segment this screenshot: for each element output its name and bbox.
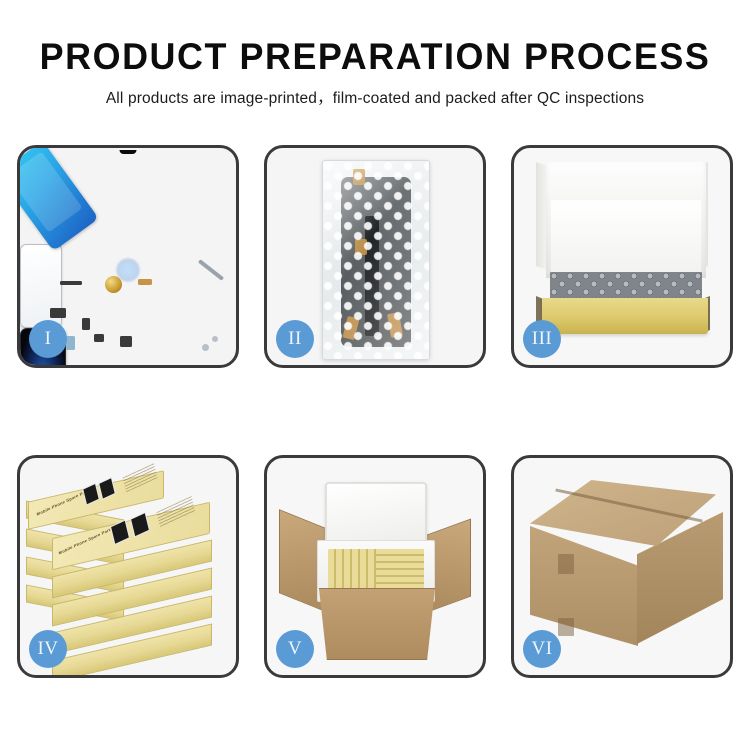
carton-tape-graphic [558, 618, 574, 636]
speaker-module-graphic [105, 276, 122, 293]
step-panel-1: I [17, 145, 239, 368]
phone-notch-icon [120, 150, 137, 154]
box-spec-lines [123, 463, 158, 492]
plastic-sheen-overlay [323, 161, 429, 359]
carton-body-graphic [311, 588, 443, 660]
step-panel-2: II [264, 145, 486, 368]
box-screen-image [98, 477, 116, 500]
small-part-graphic [66, 336, 75, 350]
small-part-graphic [60, 281, 82, 285]
carton-left-face-graphic [530, 526, 638, 646]
step-badge-6: VI [523, 630, 561, 668]
product-preparation-infographic: PRODUCT PREPARATION PROCESS All products… [0, 0, 750, 750]
small-part-graphic [138, 279, 152, 285]
step-badge-3: III [523, 320, 561, 358]
step-panel-3: III [511, 145, 733, 368]
header: PRODUCT PREPARATION PROCESS All products… [0, 0, 750, 108]
step-panel-6: VI [511, 455, 733, 678]
box-screen-image [110, 519, 130, 545]
carton-tape-graphic [558, 554, 574, 574]
page-title: PRODUCT PREPARATION PROCESS [11, 38, 739, 77]
foam-sheet-graphic [551, 200, 701, 274]
step-panel-4: Mobile Phone Spare Parts Mobile Phone Sp… [17, 455, 239, 678]
screw-graphic [202, 344, 209, 351]
step-badge-2: II [276, 320, 314, 358]
packed-yellow-boxes-graphic [376, 549, 424, 593]
box-screen-image [130, 512, 150, 538]
step-badge-4: IV [29, 630, 67, 668]
step-panel-5: V [264, 455, 486, 678]
step-badge-5: V [276, 630, 314, 668]
box-screen-image [82, 483, 100, 506]
box-spec-lines [156, 496, 195, 529]
step-badge-1: I [29, 320, 67, 358]
bubble-wrap-bag-graphic [322, 160, 430, 360]
yellow-box-base-graphic [542, 298, 708, 334]
page-subtitle: All products are image-printed，film-coat… [0, 86, 750, 108]
screw-graphic [212, 336, 218, 342]
tweezers-graphic [198, 259, 224, 281]
adhesive-sheet-graphic [17, 145, 99, 251]
small-part-graphic [82, 318, 90, 330]
small-part-graphic [50, 308, 66, 318]
small-part-graphic [120, 336, 132, 347]
process-steps-grid: I II [17, 145, 733, 678]
small-part-graphic [94, 334, 104, 342]
